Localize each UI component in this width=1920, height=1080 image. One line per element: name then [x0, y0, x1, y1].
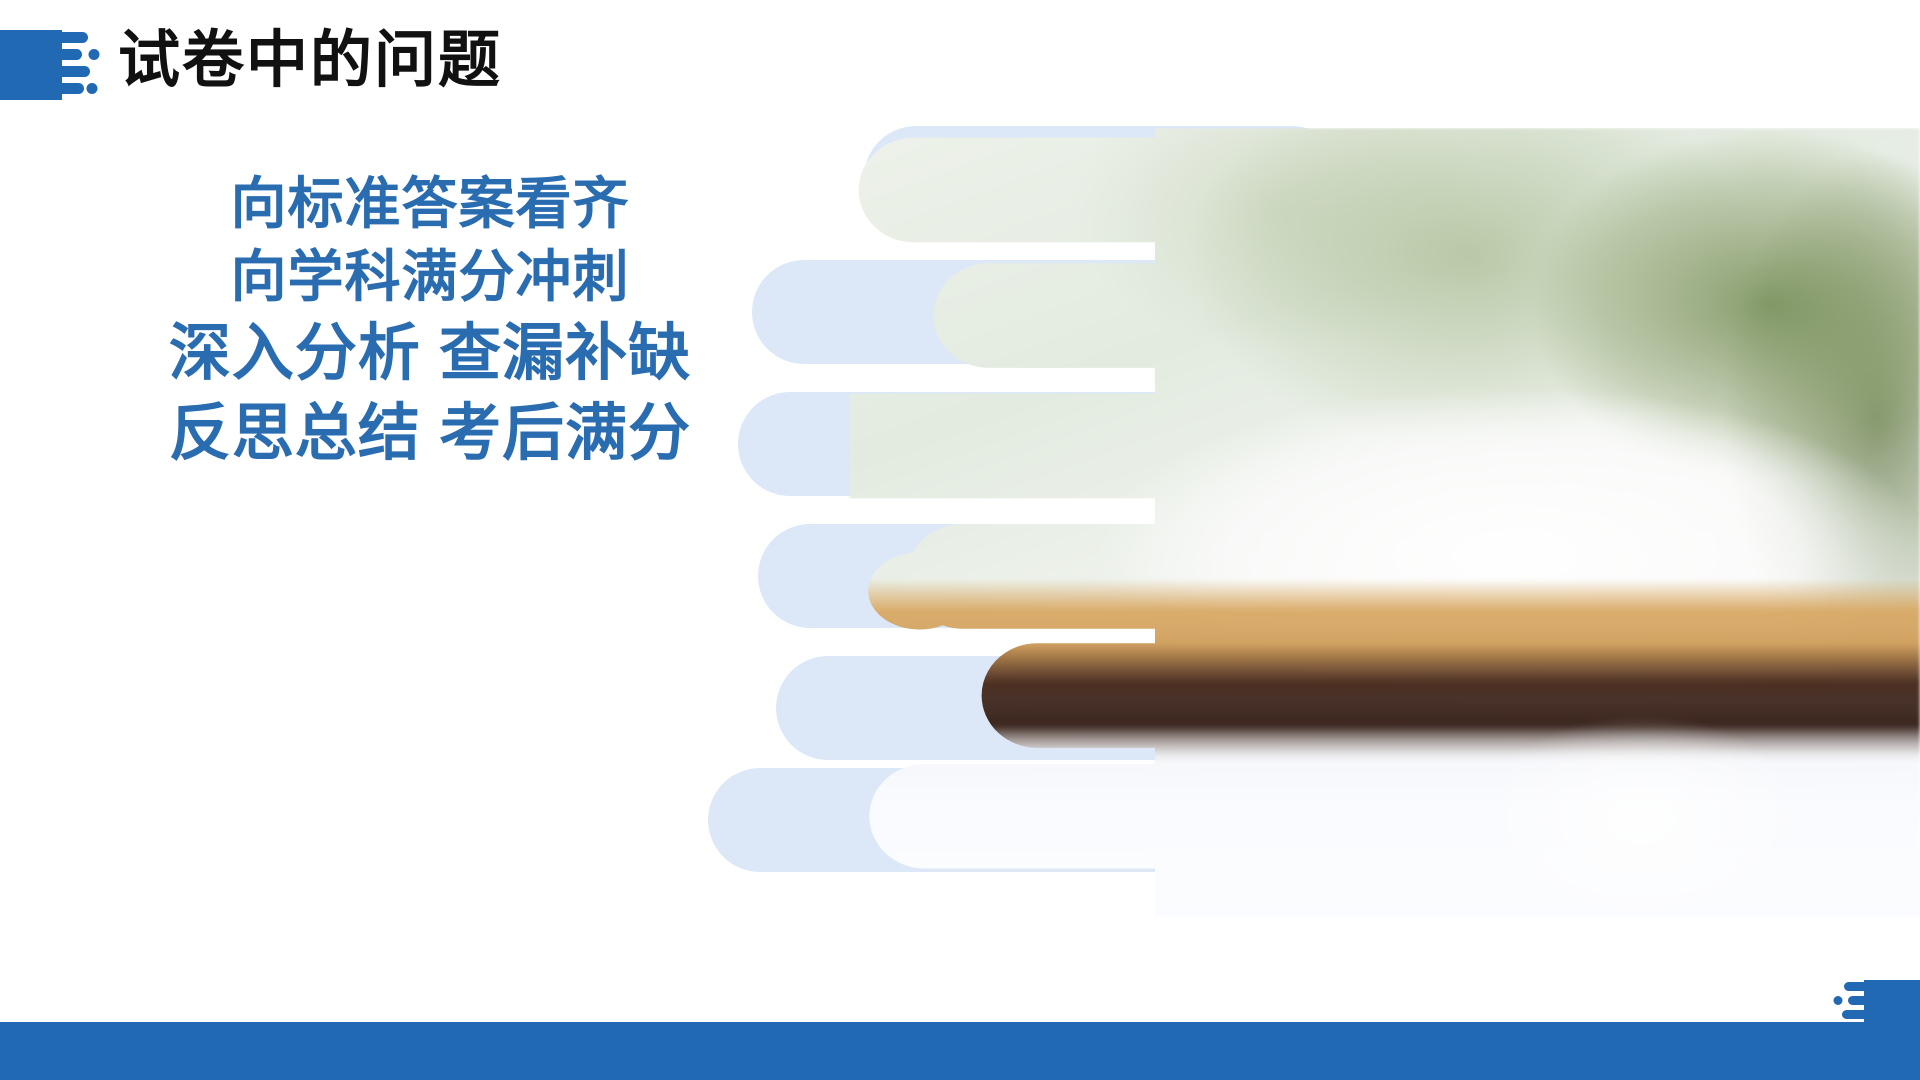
headline-line-2: 向学科满分冲刺	[150, 241, 710, 314]
page-title: 试卷中的问题	[118, 30, 502, 92]
headline-line-4: 反思总结 考后满分	[150, 394, 710, 475]
headline-block: 向标准答案看齐 向学科满分冲刺 深入分析 查漏补缺 反思总结 考后满分	[150, 168, 710, 475]
slide-root: 试卷中的问题 向标准答案看齐 向学科满分冲刺 深入分析 查漏补缺 反思总结 考后…	[0, 0, 1920, 1080]
headline-line-3: 深入分析 查漏补缺	[150, 314, 710, 395]
slide-header: 试卷中的问题	[0, 0, 1920, 122]
background-photo	[850, 128, 1920, 933]
photo-clip	[850, 128, 1920, 933]
bottom-accent-band	[0, 1022, 1920, 1080]
headline-line-1: 向标准答案看齐	[150, 168, 710, 241]
brand-logo-mark	[0, 16, 100, 112]
photo-composition	[850, 128, 1920, 933]
